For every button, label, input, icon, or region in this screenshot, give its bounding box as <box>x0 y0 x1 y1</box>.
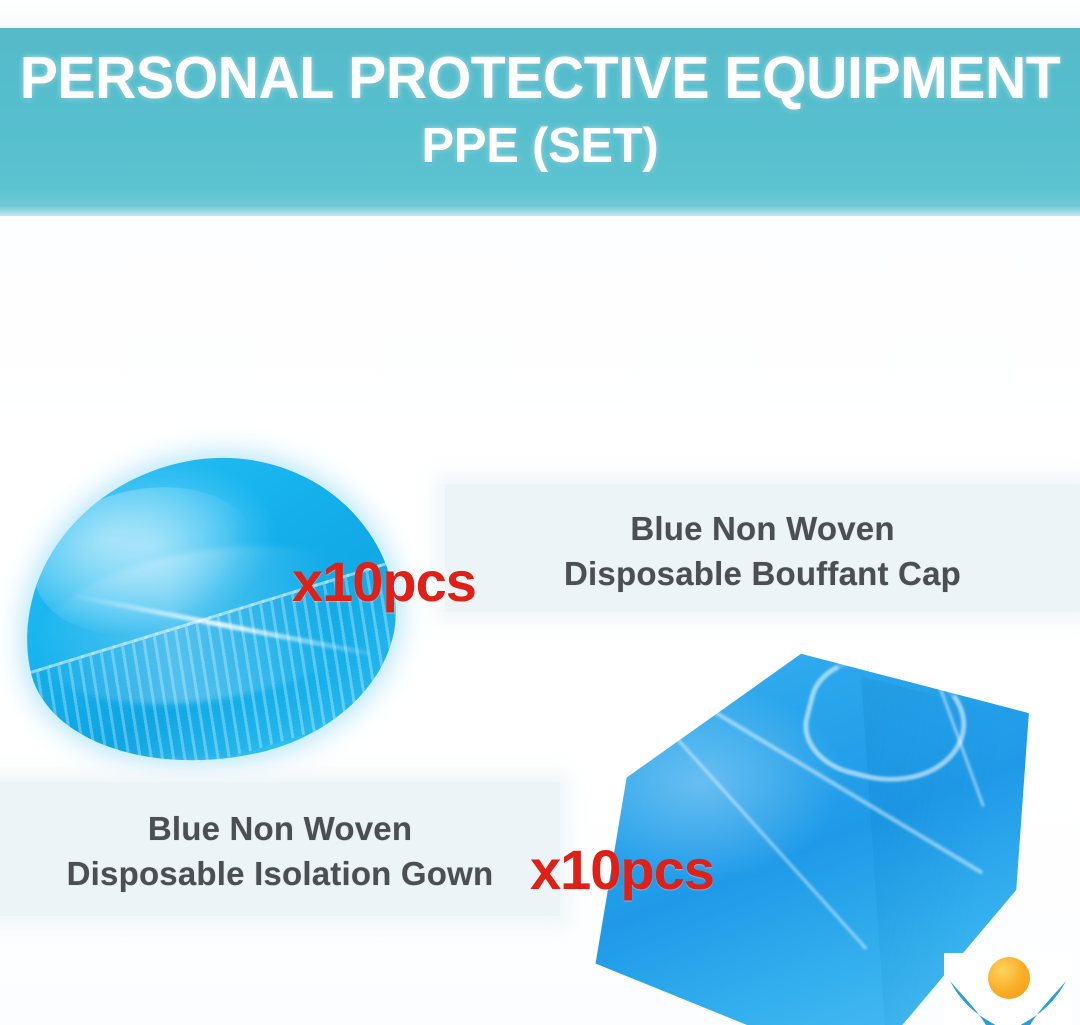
quantity-badge-bouffant-cap: x10pcs <box>292 554 476 610</box>
caption-line-2: Disposable Isolation Gown <box>0 851 560 896</box>
ppe-product-poster: PERSONAL PROTECTIVE EQUIPMENT PPE (SET) <box>0 0 1080 1025</box>
caption-panel-isolation-gown: Blue Non Woven Disposable Isolation Gown <box>0 782 560 916</box>
quantity-badge-isolation-gown: x10pcs <box>530 842 714 898</box>
caption-panel-bouffant-cap: Blue Non Woven Disposable Bouffant Cap <box>445 484 1080 612</box>
bouffant-cap-image <box>8 454 418 779</box>
page-title: PERSONAL PROTECTIVE EQUIPMENT <box>16 48 1064 108</box>
product-showcase-area: Blue Non Woven Disposable Bouffant Cap B… <box>0 216 1080 1025</box>
caption-line-1: Blue Non Woven <box>445 506 1080 551</box>
page-subtitle: PPE (SET) <box>0 120 1080 172</box>
brand-logo <box>944 953 1072 1025</box>
logo-person-icon <box>944 971 1072 1025</box>
caption-line-1: Blue Non Woven <box>0 806 560 851</box>
top-white-strip <box>0 0 1080 28</box>
caption-line-2: Disposable Bouffant Cap <box>445 551 1080 596</box>
